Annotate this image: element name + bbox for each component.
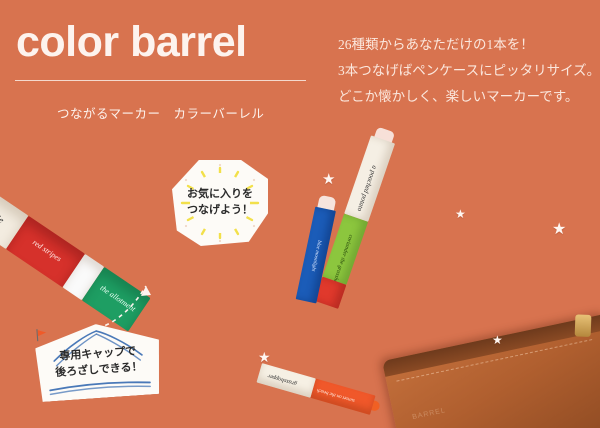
star-decoration-icon: ★ — [552, 222, 566, 238]
description-line-1: 26種類からあなただけの1本を！ — [338, 32, 596, 58]
star-decoration-icon: ★ — [455, 208, 466, 220]
case-emboss-text: BARREL — [412, 407, 447, 421]
burst-badge: お気に入りを つなげよう！ — [172, 160, 268, 246]
marker-orange-bottom: sunset on the beach grasshopper — [257, 363, 376, 415]
star-decoration-icon: ★ — [322, 172, 335, 187]
marker-label-blue: blue moonlight — [312, 240, 322, 262]
badge-text: お気に入りを つなげよう！ — [172, 186, 268, 218]
star-decoration-icon: ★ — [492, 334, 503, 346]
badge-line-1: お気に入りを — [172, 186, 268, 202]
flag-icon — [34, 327, 49, 342]
marker-label-red: red stripes — [27, 237, 65, 266]
page-title: color barrel — [16, 21, 247, 64]
zipper-pull-icon — [575, 314, 592, 337]
title-divider — [15, 80, 306, 81]
marker-label-orange: sunset on the beach — [335, 392, 356, 402]
marker-segment-cream: grasshopper — [257, 363, 316, 398]
page-subtitle: つながるマーカー カラーバーレル — [57, 103, 264, 122]
description-line-3: どこか懐かしく、楽しいマーカーです。 — [338, 84, 596, 110]
description-block: 26種類からあなただけの1本を！ 3本つなげばペンケースにピッタリサイズ。 どこ… — [338, 32, 596, 110]
marker-segment-orange: sunset on the beach — [310, 379, 375, 415]
description-line-2: 3本つなげばペンケースにピッタリサイズ。 — [338, 58, 596, 84]
badge-line-2: つなげよう！ — [172, 202, 268, 218]
marker-label-cream: a poached potato — [363, 164, 378, 190]
marker-label-green: coriander the grasshopper — [339, 234, 353, 260]
leather-pen-case: BARREL — [382, 313, 600, 428]
house-callout: 専用キャップで 後ろざしできる！ — [33, 312, 162, 402]
star-decoration-icon: ★ — [258, 350, 271, 364]
marker-label-cream: lingerie — [0, 199, 10, 229]
marker-segment-cream: a poached potato — [344, 135, 395, 222]
marker-label-cream: grasshopper — [277, 375, 298, 386]
poster-canvas: color barrel つながるマーカー カラーバーレル 26種類からあなただ… — [0, 0, 600, 428]
